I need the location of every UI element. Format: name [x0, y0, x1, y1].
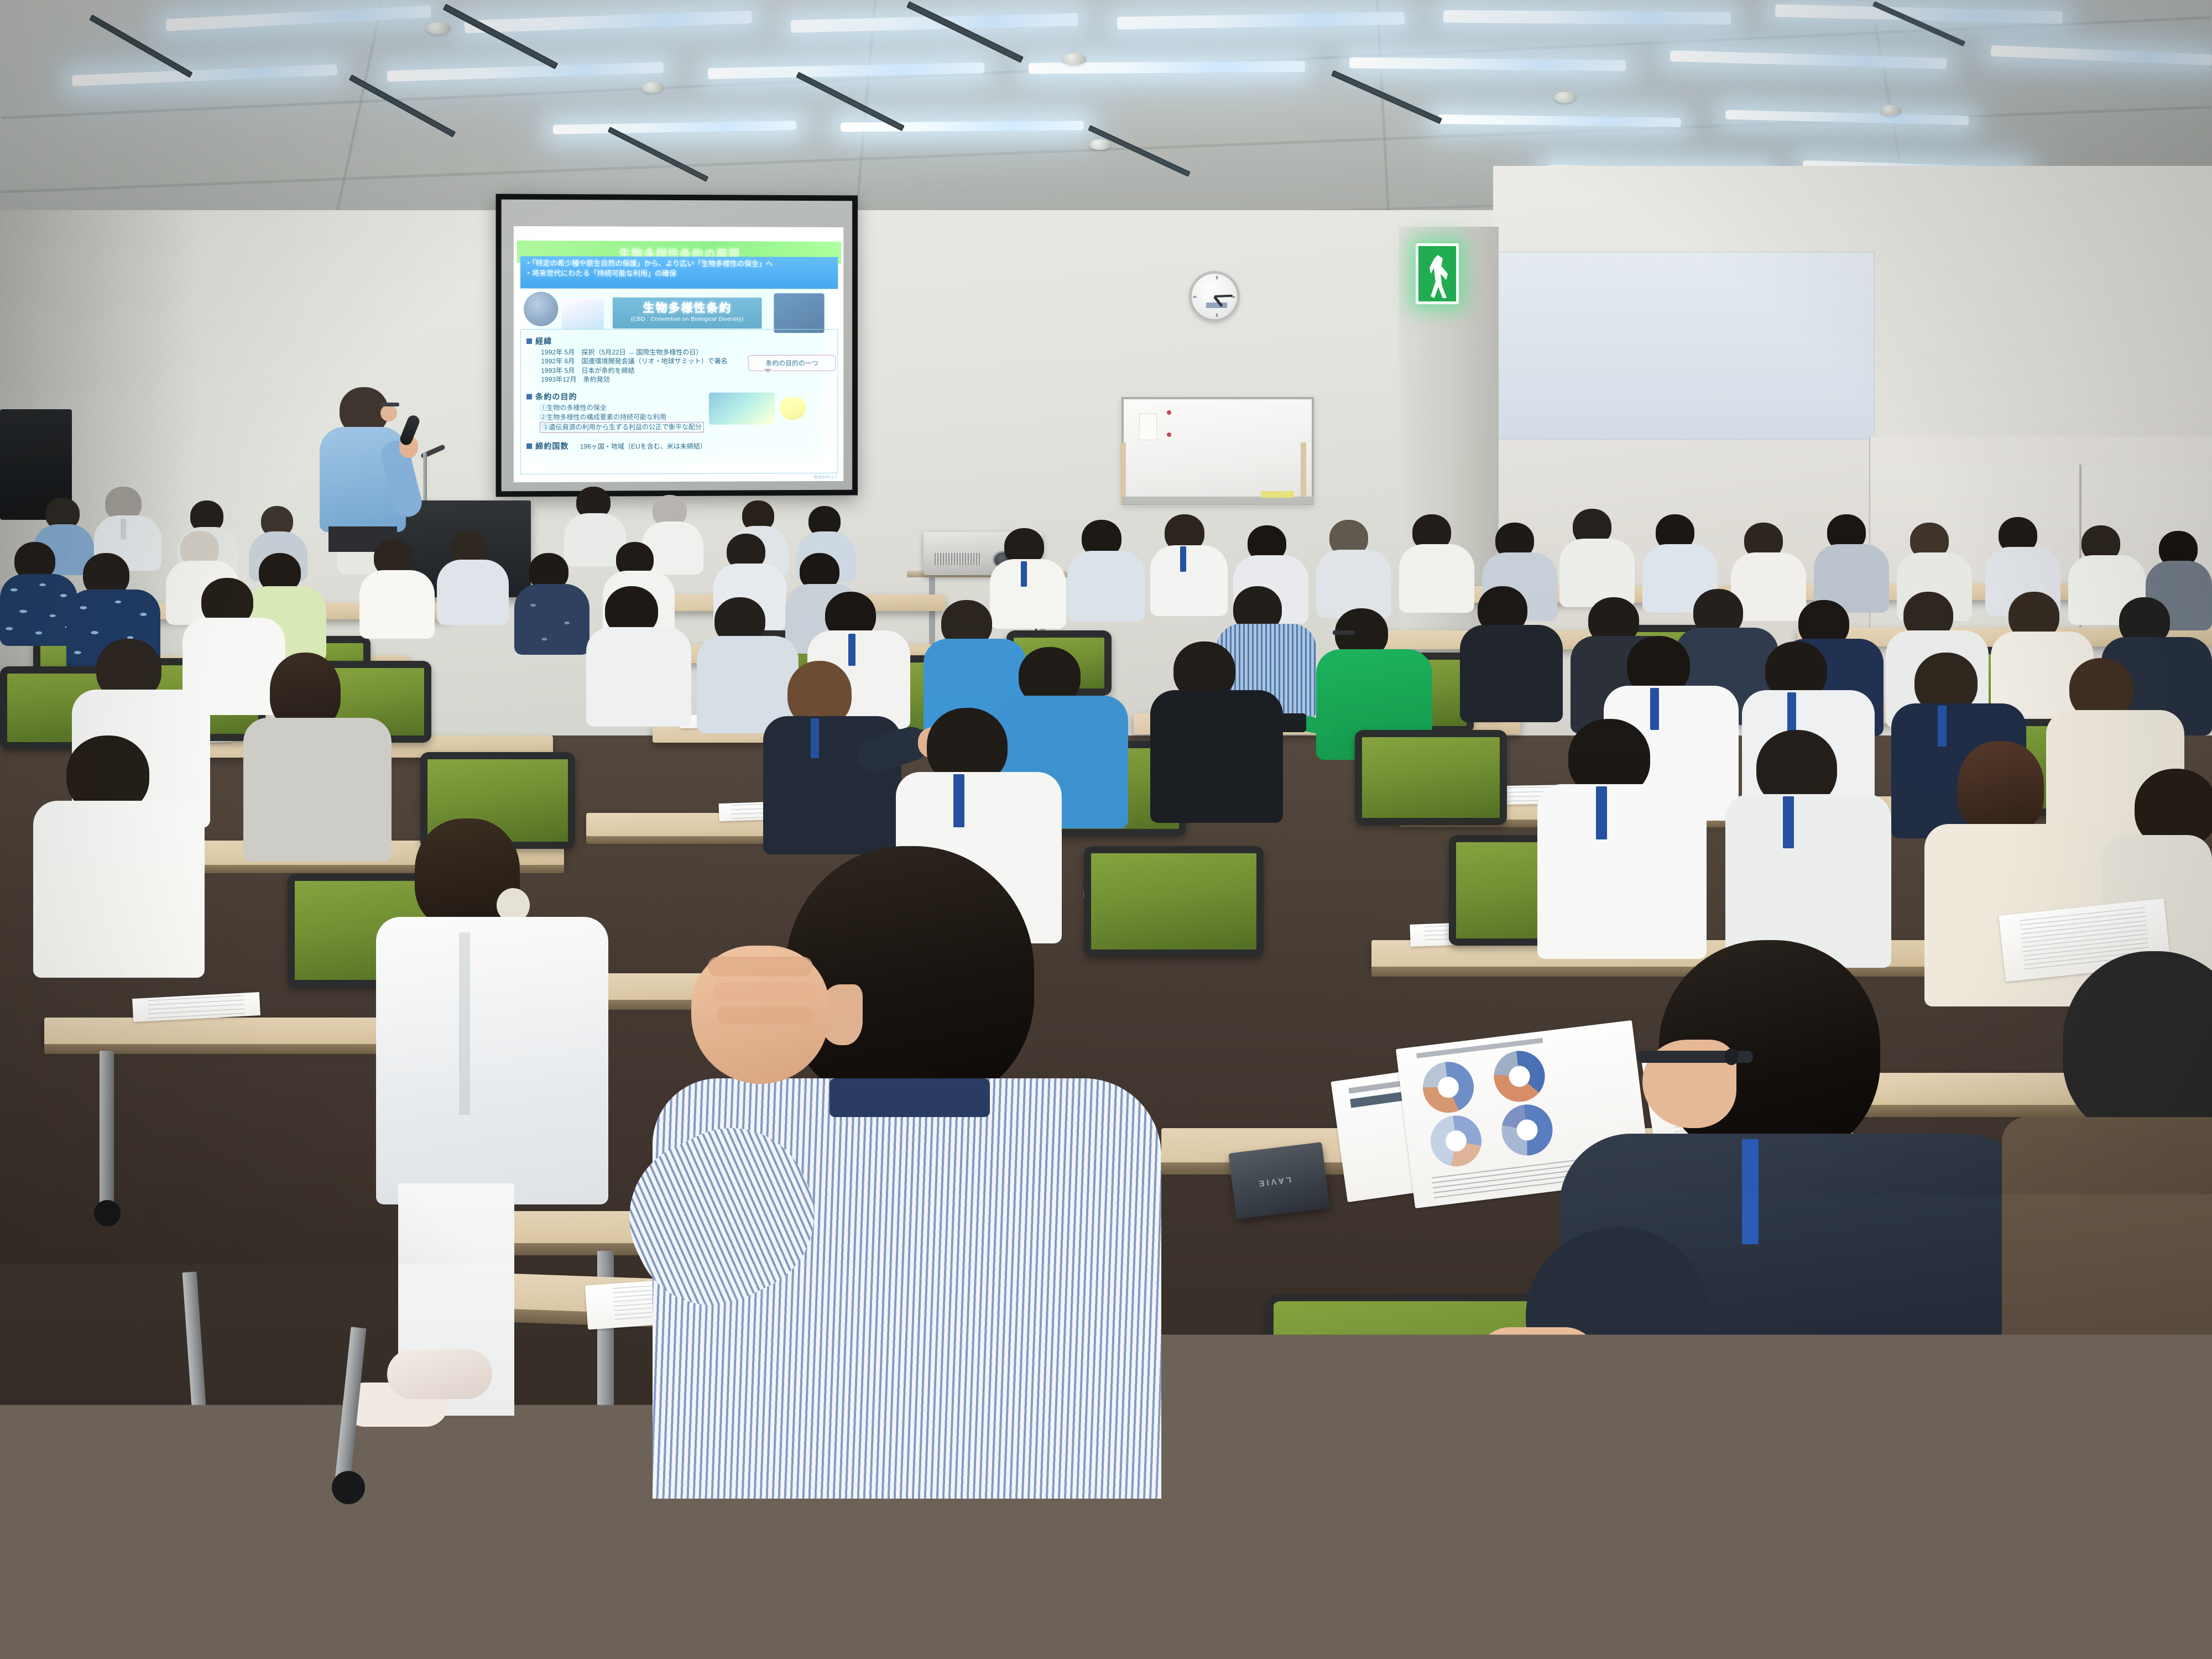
whiteboard-sticky-note [1261, 491, 1294, 498]
slide-content: 生物多様性条約の概要 ・「特定の希少種や原生自然の保護」から、より広い「生物多様… [514, 226, 843, 482]
magnet-icon [1167, 410, 1171, 415]
slide-treaty-name: 生物多様性条約 (CBD : Convention on Biological … [613, 298, 762, 328]
shirt-collar [830, 1078, 990, 1117]
closed-laptop[interactable]: LAVIE [1228, 1142, 1329, 1219]
slide-photo-coral [561, 299, 603, 330]
finger [713, 982, 816, 1001]
slide-lead-block: ・「特定の希少種や原生自然の保護」から、より広い「生物多様性の保全」へ ・将来世… [520, 256, 838, 289]
magnet-icon [1167, 432, 1171, 437]
eyeglass-lens [1724, 1048, 1739, 1065]
av-cart-leg [929, 576, 935, 648]
slide-credit: 環境省HPより [813, 474, 838, 480]
donut-chart [1499, 1102, 1556, 1159]
ceiling-speaker [426, 22, 450, 34]
whiteboard-paper [1139, 414, 1157, 440]
slide-treaty-name-en: (CBD : Convention on Biological Diversit… [613, 316, 762, 322]
bullet-square-icon [526, 338, 532, 344]
smoke-detector [1089, 139, 1110, 150]
whiteboard-tray-left [1120, 442, 1126, 503]
slide-objective-row-highlighted: ③遺伝資源の利用から生ずる利益の公正で衡平な配分 [540, 422, 704, 433]
desk-caster [591, 1427, 620, 1457]
slide-photo-lab [774, 293, 824, 333]
slide-heading-history: 経緯 [535, 336, 552, 347]
presenter-face [380, 405, 397, 421]
head [785, 846, 1034, 1106]
finger [717, 1006, 813, 1024]
smoke-detector [641, 82, 664, 93]
exit-sign-icon [1416, 243, 1459, 304]
slide-photo-globe [524, 292, 558, 326]
sandal [387, 1349, 492, 1399]
slide-lead-line-2: ・将来世代にわたる「持続可能な利用」の確保 [525, 269, 833, 280]
ceiling-speaker [1062, 53, 1086, 65]
whiteboard-pen-tray [1121, 497, 1314, 504]
slide-history-row: 1993年12月 条約発効 [541, 375, 832, 384]
microphone-stand [423, 452, 427, 505]
seminar-room-photo: 生物多様性条約の概要 ・「特定の希少種や原生自然の保護」から、より広い「生物多様… [0, 0, 2212, 1659]
whiteboard-tray-right [1301, 442, 1306, 503]
slide-parties-value: 196ヶ国・地域〔EUを含む、米は未締結〕 [580, 441, 707, 451]
desk-edge [1371, 967, 1980, 977]
ceiling-light [1443, 10, 1731, 25]
wall-clock [1189, 271, 1240, 322]
ceiling-speaker [1554, 92, 1576, 103]
smoke-detector [1880, 105, 1901, 116]
donut-chart [1420, 1059, 1477, 1116]
slide-photo-banana [779, 397, 806, 420]
slide-heading-parties: 締約国数 [535, 441, 568, 452]
slide-photo-nature [709, 393, 775, 425]
finger [708, 957, 813, 977]
donut-chart [1428, 1113, 1485, 1170]
eyeglasses-icon [1333, 630, 1355, 635]
slide-lead-line-1: ・「特定の希少種や原生自然の保護」から、より広い「生物多様性の保全」へ [525, 258, 833, 269]
eyeglasses-icon [380, 403, 399, 406]
projection-screen: 生物多様性条約の概要 ・「特定の希少種や原生自然の保護」から、より広い「生物多様… [496, 194, 858, 497]
laptop-brand-label: LAVIE [1256, 1175, 1292, 1188]
slide-callout: 条約の目的の一つ [748, 355, 836, 371]
hand [1477, 1327, 1598, 1410]
ceiling-light [841, 121, 1084, 132]
projector-vent [935, 553, 981, 565]
slide-treaty-name-jp: 生物多様性条約 [613, 299, 762, 316]
donut-chart [1491, 1048, 1548, 1105]
desk-caster [94, 1200, 121, 1227]
wall-recess-panel [1493, 252, 1875, 440]
shoe [1593, 1543, 1736, 1609]
bullet-square-icon [526, 444, 532, 449]
slide-heading-objectives: 条約の目的 [535, 391, 577, 402]
chair-caster [332, 1471, 365, 1504]
shoe [1460, 1482, 1587, 1543]
shoe [2124, 1394, 2212, 1454]
desk-caster [178, 1427, 210, 1459]
desk-leg [100, 1051, 114, 1206]
bullet-square-icon [526, 394, 532, 400]
blouse-seam [459, 932, 470, 1115]
